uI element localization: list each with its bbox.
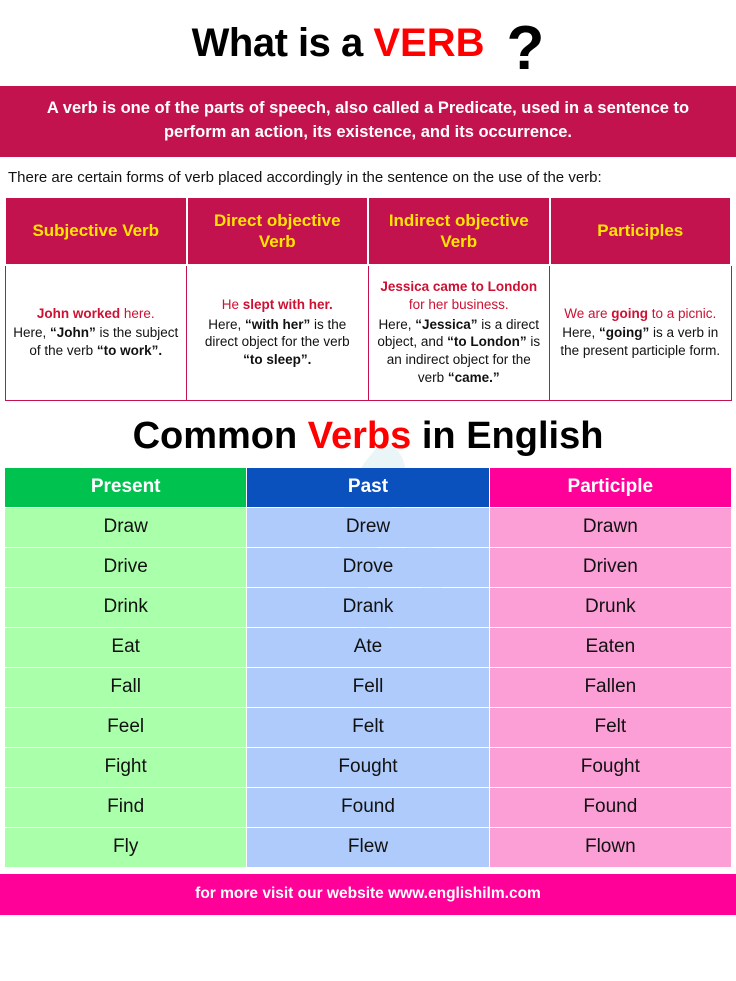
verb-cell-participle: Felt bbox=[490, 708, 731, 747]
verb-cell-participle: Found bbox=[490, 788, 731, 827]
forms-cell-subjective: John worked here. Here, “John” is the su… bbox=[5, 265, 187, 401]
example-explanation: Here, “John” is the subject of the verb … bbox=[13, 324, 180, 360]
verb-cell-past: Fell bbox=[247, 668, 488, 707]
definition-band: A verb is one of the parts of speech, al… bbox=[0, 86, 736, 157]
verb-cell-present: Feel bbox=[5, 708, 246, 747]
verb-cell-participle: Drunk bbox=[490, 588, 731, 627]
verb-cell-past: Ate bbox=[247, 628, 488, 667]
verb-cell-past: Felt bbox=[247, 708, 488, 747]
verbs-header-row: Present Past Participle bbox=[5, 468, 731, 507]
forms-header-participles: Participles bbox=[550, 197, 732, 266]
forms-header-direct: Direct objective Verb bbox=[187, 197, 369, 266]
verb-cell-past: Found bbox=[247, 788, 488, 827]
example-sentence: He slept with her. bbox=[194, 296, 361, 314]
verb-cell-participle: Driven bbox=[490, 548, 731, 587]
table-row: DrawDrewDrawn bbox=[5, 508, 731, 547]
title-text-accent: VERB bbox=[373, 21, 484, 65]
title-text-main: What is a bbox=[192, 21, 374, 65]
example-explanation: Here, “Jessica” is a direct object, and … bbox=[376, 316, 543, 387]
verb-cell-participle: Drawn bbox=[490, 508, 731, 547]
verb-cell-present: Find bbox=[5, 788, 246, 827]
verb-cell-present: Drive bbox=[5, 548, 246, 587]
verb-cell-participle: Flown bbox=[490, 828, 731, 867]
question-mark-icon: ? bbox=[506, 14, 544, 83]
forms-header-subjective: Subjective Verb bbox=[5, 197, 187, 266]
intro-text: There are certain forms of verb placed a… bbox=[0, 157, 736, 196]
verb-cell-present: Fly bbox=[5, 828, 246, 867]
verb-cell-past: Flew bbox=[247, 828, 488, 867]
section-title-part2: in English bbox=[411, 415, 603, 457]
verbs-header-participle: Participle bbox=[490, 468, 731, 507]
example-sentence: We are going to a picnic. bbox=[557, 305, 724, 323]
forms-body-row: John worked here. Here, “John” is the su… bbox=[5, 265, 731, 401]
table-row: FeelFeltFelt bbox=[5, 708, 731, 747]
verb-cell-present: Draw bbox=[5, 508, 246, 547]
section-title-accent: Verbs bbox=[308, 415, 412, 457]
verb-cell-participle: Fallen bbox=[490, 668, 731, 707]
table-row: FightFoughtFought bbox=[5, 748, 731, 787]
table-row: DriveDroveDriven bbox=[5, 548, 731, 587]
verb-cell-past: Drove bbox=[247, 548, 488, 587]
verb-cell-participle: Eaten bbox=[490, 628, 731, 667]
verbs-header-present: Present bbox=[5, 468, 246, 507]
verb-cell-present: Fall bbox=[5, 668, 246, 707]
example-explanation: Here, “with her” is the direct object fo… bbox=[194, 316, 361, 369]
table-row: FallFellFallen bbox=[5, 668, 731, 707]
verb-cell-past: Drew bbox=[247, 508, 488, 547]
table-row: EatAteEaten bbox=[5, 628, 731, 667]
forms-cell-participles: We are going to a picnic. Here, “going” … bbox=[550, 265, 732, 401]
forms-header-row: Subjective Verb Direct objective Verb In… bbox=[5, 197, 731, 266]
footer-bar: for more visit our website www.englishil… bbox=[0, 874, 736, 915]
infographic-page: What is a VERB? A verb is one of the par… bbox=[0, 0, 736, 915]
verb-cell-past: Fought bbox=[247, 748, 488, 787]
verb-cell-past: Drank bbox=[247, 588, 488, 627]
table-row: FindFoundFound bbox=[5, 788, 731, 827]
table-row: FlyFlewFlown bbox=[5, 828, 731, 867]
common-verbs-table: Present Past Participle DrawDrewDrawnDri… bbox=[4, 467, 732, 868]
section-title: Common Verbs in English bbox=[0, 401, 736, 467]
verb-cell-present: Eat bbox=[5, 628, 246, 667]
forms-header-indirect: Indirect objective Verb bbox=[368, 197, 550, 266]
forms-cell-direct: He slept with her. Here, “with her” is t… bbox=[187, 265, 369, 401]
verbs-header-past: Past bbox=[247, 468, 488, 507]
section-title-part1: Common bbox=[133, 415, 308, 457]
verb-cell-present: Fight bbox=[5, 748, 246, 787]
table-row: DrinkDrankDrunk bbox=[5, 588, 731, 627]
verb-cell-present: Drink bbox=[5, 588, 246, 627]
page-title: What is a VERB? bbox=[0, 0, 736, 80]
verbs-body: DrawDrewDrawnDriveDroveDrivenDrinkDrankD… bbox=[5, 508, 731, 867]
example-sentence: John worked here. bbox=[13, 305, 180, 323]
example-explanation: Here, “going” is a verb in the present p… bbox=[557, 324, 724, 360]
example-sentence: Jessica came to London for her business. bbox=[376, 278, 543, 314]
verb-forms-table: Subjective Verb Direct objective Verb In… bbox=[4, 196, 732, 402]
verb-cell-participle: Fought bbox=[490, 748, 731, 787]
forms-cell-indirect: Jessica came to London for her business.… bbox=[368, 265, 550, 401]
